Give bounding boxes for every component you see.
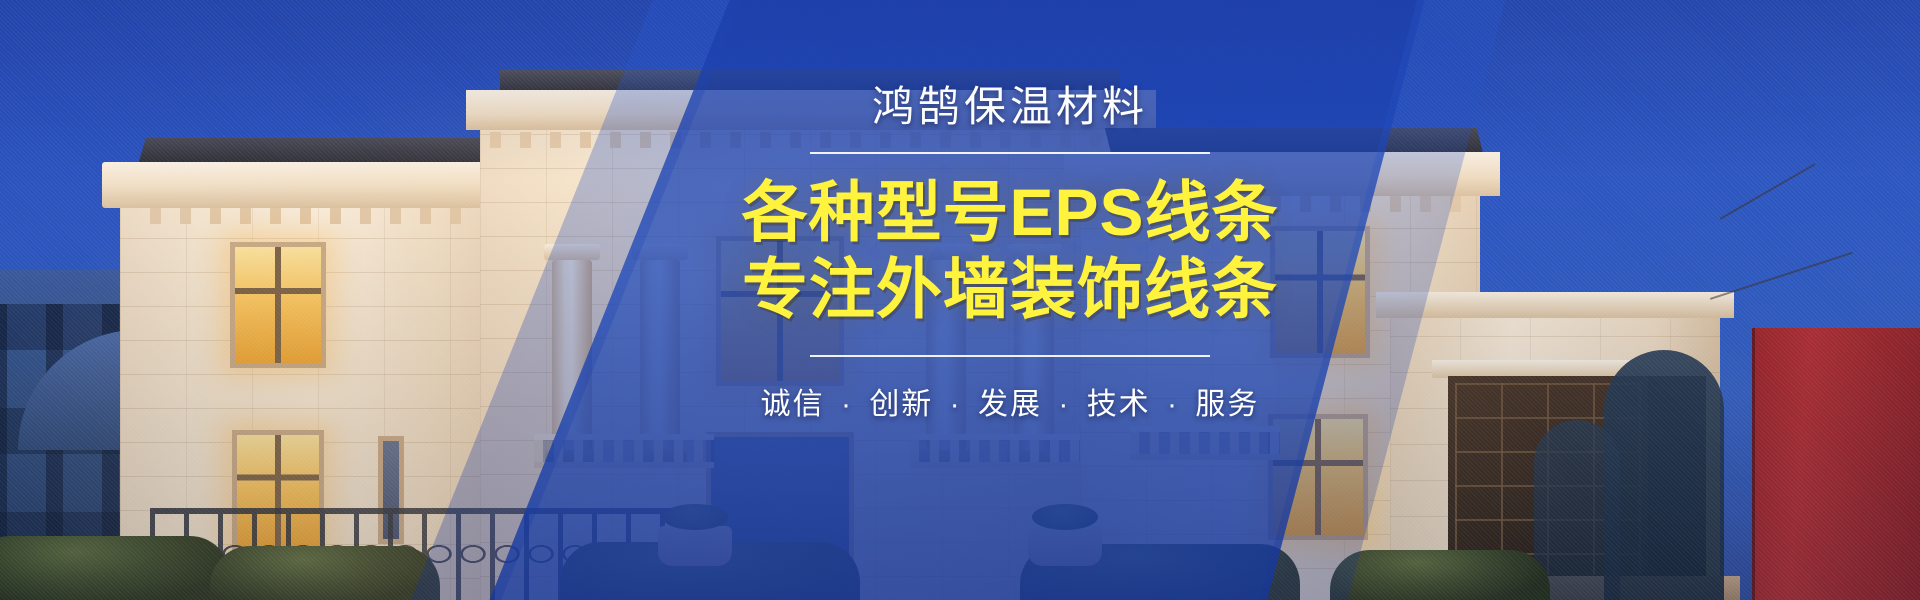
- tagline: 诚信 · 创新 · 发展 · 技术 · 服务: [690, 379, 1330, 423]
- tagline-separator: ·: [835, 388, 859, 421]
- tagline-separator: ·: [944, 388, 968, 421]
- tagline-item-3: 技术: [1087, 388, 1151, 421]
- tagline-separator: ·: [1161, 388, 1185, 421]
- divider-top: [810, 152, 1210, 154]
- tagline-item-2: 发展: [978, 388, 1042, 421]
- divider-bottom: [810, 355, 1210, 357]
- banner-text-block: 鸿鹄保温材料 各种型号EPS线条 专注外墙装饰线条 诚信 · 创新 · 发展 ·…: [690, 84, 1330, 423]
- tagline-item-1: 创新: [869, 388, 933, 421]
- headline-line-1: 各种型号EPS线条: [741, 175, 1278, 249]
- tagline-item-0: 诚信: [761, 388, 825, 421]
- tagline-separator: ·: [1052, 388, 1076, 421]
- headline: 各种型号EPS线条 专注外墙装饰线条: [690, 174, 1330, 328]
- headline-line-2: 专注外墙装饰线条: [690, 251, 1330, 328]
- brand-name: 鸿鹄保温材料: [690, 84, 1330, 130]
- tagline-item-4: 服务: [1195, 388, 1259, 421]
- promo-banner: 鸿鹄保温材料 各种型号EPS线条 专注外墙装饰线条 诚信 · 创新 · 发展 ·…: [0, 0, 1920, 600]
